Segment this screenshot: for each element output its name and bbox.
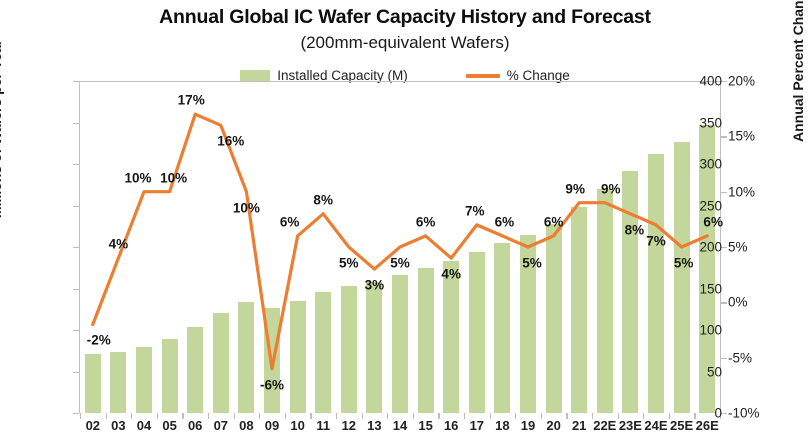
- line-path: [93, 114, 707, 369]
- data-label: 3%: [365, 278, 385, 293]
- x-axis-tick-label: 15: [418, 418, 432, 433]
- x-axis-tick-label: 20: [546, 418, 560, 433]
- y-axis-left-tick: [73, 413, 79, 414]
- data-label: 10%: [233, 200, 260, 215]
- x-axis-tick-label: 12: [342, 418, 356, 433]
- data-label: 9%: [565, 181, 585, 196]
- x-axis-tick-label: 24E: [644, 418, 667, 433]
- chart-container: Annual Global IC Wafer Capacity History …: [0, 0, 810, 435]
- x-axis-tick: [566, 413, 567, 419]
- y-axis-left-tick: [73, 330, 79, 331]
- y-axis-right-tick-label: 10%: [728, 184, 755, 199]
- x-axis-tick: [310, 413, 311, 419]
- x-axis-tick: [208, 413, 209, 419]
- y-axis-left-tick-label: 50: [707, 364, 722, 379]
- x-axis-tick: [387, 413, 388, 419]
- x-axis-tick-label: 23E: [619, 418, 642, 433]
- x-axis-tick-label: 25E: [670, 418, 693, 433]
- data-label: 6%: [416, 214, 436, 229]
- data-label: 7%: [646, 233, 666, 248]
- data-label: -2%: [87, 333, 111, 348]
- y-axis-right-tick-label: 5%: [728, 240, 748, 255]
- data-label: 10%: [160, 170, 187, 185]
- y-axis-right-tick: [721, 358, 727, 359]
- y-axis-left-title: Millions of Wafers per Year: [0, 40, 4, 218]
- data-label: 5%: [390, 256, 410, 271]
- x-axis-tick: [515, 413, 516, 419]
- data-label: -6%: [260, 377, 284, 392]
- y-axis-left-tick: [73, 123, 79, 124]
- data-label: 4%: [441, 267, 461, 282]
- x-axis-tick-label: 21: [572, 418, 586, 433]
- x-axis-tick: [541, 413, 542, 419]
- x-axis-tick-label: 17: [470, 418, 484, 433]
- x-axis-tick-label: 10: [290, 418, 304, 433]
- x-axis-tick: [362, 413, 363, 419]
- x-axis-tick-label: 07: [214, 418, 228, 433]
- x-axis-tick: [336, 413, 337, 419]
- legend-bar-swatch-icon: [240, 70, 270, 81]
- x-axis-tick: [80, 413, 81, 419]
- y-axis-right-tick: [721, 192, 727, 193]
- chart-title: Annual Global IC Wafer Capacity History …: [0, 6, 810, 29]
- x-axis-tick: [131, 413, 132, 419]
- x-axis-tick: [464, 413, 465, 419]
- y-axis-left-tick: [73, 206, 79, 207]
- y-axis-left-tick-label: 200: [699, 240, 722, 255]
- x-axis-tick: [490, 413, 491, 419]
- y-axis-left-tick: [73, 81, 79, 82]
- y-axis-left-tick-label: 350: [699, 115, 722, 130]
- data-label: 17%: [178, 93, 205, 108]
- y-axis-left-tick-label: 300: [699, 157, 722, 172]
- x-axis-tick-label: 05: [162, 418, 176, 433]
- x-axis-tick-label: 26E: [696, 418, 719, 433]
- y-axis-right-tick-label: 0%: [728, 295, 748, 310]
- x-axis-tick-label: 22E: [593, 418, 616, 433]
- legend-line-swatch-icon: [466, 74, 500, 78]
- data-label: 5%: [339, 256, 359, 271]
- x-axis-tick-label: 02: [86, 418, 100, 433]
- chart-subtitle: (200mm-equivalent Wafers): [0, 33, 810, 53]
- data-label: 8%: [625, 222, 645, 237]
- plot-area: [80, 81, 720, 413]
- percent-change-line-series: [80, 81, 720, 413]
- x-axis-tick-label: 19: [521, 418, 535, 433]
- data-label: 5%: [522, 256, 542, 271]
- x-axis-tick-label: 11: [316, 418, 330, 433]
- x-axis-tick: [234, 413, 235, 419]
- x-axis-tick: [182, 413, 183, 419]
- data-label: 9%: [601, 181, 621, 196]
- data-label: 6%: [544, 214, 564, 229]
- x-axis-tick: [157, 413, 158, 419]
- x-axis-tick: [413, 413, 414, 419]
- x-axis-tick: [259, 413, 260, 419]
- data-label: 7%: [465, 203, 485, 218]
- x-axis-tick-label: 06: [188, 418, 202, 433]
- y-axis-left-tick-label: 400: [699, 74, 722, 89]
- x-axis-tick-label: 18: [495, 418, 509, 433]
- x-axis-tick: [438, 413, 439, 419]
- data-label: 5%: [674, 256, 694, 271]
- y-axis-left-tick-label: 100: [699, 323, 722, 338]
- y-axis-right-tick-label: 15%: [728, 129, 755, 144]
- y-axis-right-tick: [721, 136, 727, 137]
- y-axis-right-tick-label: 20%: [728, 74, 755, 89]
- y-axis-left-tick: [73, 247, 79, 248]
- data-label: 16%: [217, 134, 244, 149]
- data-label: 6%: [495, 214, 515, 229]
- y-axis-right-tick: [721, 302, 727, 303]
- y-axis-left-tick-label: 150: [699, 281, 722, 296]
- y-axis-left-tick: [73, 164, 79, 165]
- x-axis-tick-label: 16: [444, 418, 458, 433]
- x-axis-tick-label: 13: [367, 418, 381, 433]
- x-axis-tick-label: 09: [265, 418, 279, 433]
- x-axis-tick-label: 08: [239, 418, 253, 433]
- y-axis-right-title: Annual Percent Change: [790, 0, 806, 142]
- y-axis-right-tick-label: -10%: [728, 406, 760, 421]
- x-axis-tick-label: 04: [137, 418, 151, 433]
- y-axis-left-tick: [73, 372, 79, 373]
- data-label: 8%: [313, 192, 333, 207]
- data-label: 6%: [280, 214, 300, 229]
- data-label: 4%: [109, 237, 129, 252]
- y-axis-left-tick-label: 250: [699, 198, 722, 213]
- data-label: 10%: [124, 170, 151, 185]
- data-label: 6%: [703, 214, 723, 229]
- x-axis-tick: [285, 413, 286, 419]
- y-axis-left-tick: [73, 289, 79, 290]
- x-axis-tick: [106, 413, 107, 419]
- x-axis-tick-label: 03: [111, 418, 125, 433]
- y-axis-right-tick-label: -5%: [728, 350, 752, 365]
- x-axis-tick-label: 14: [393, 418, 407, 433]
